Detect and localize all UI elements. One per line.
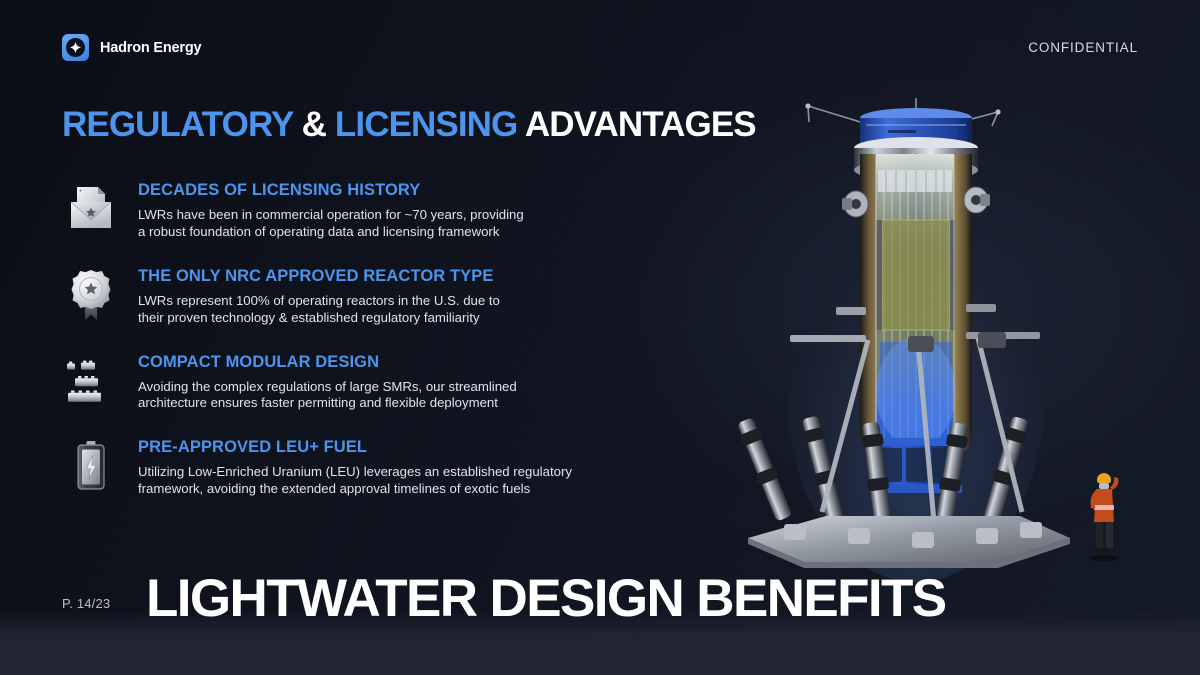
bottom-band: [0, 633, 1200, 675]
benefits-list: DECADES OF LICENSING HISTORY LWRs have b…: [62, 178, 682, 521]
list-item-body: LWRs represent 100% of operating reactor…: [138, 293, 500, 327]
list-item: DECADES OF LICENSING HISTORY LWRs have b…: [62, 178, 682, 241]
list-item-text: COMPACT MODULAR DESIGN Avoiding the comp…: [138, 350, 517, 413]
page-title-part-3: LICENSING: [335, 105, 517, 144]
list-item: THE ONLY NRC APPROVED REACTOR TYPE LWRs …: [62, 264, 682, 327]
brand-logo: Hadron Energy: [62, 34, 201, 61]
list-item-text: DECADES OF LICENSING HISTORY LWRs have b…: [138, 178, 524, 241]
list-item-text: THE ONLY NRC APPROVED REACTOR TYPE LWRs …: [138, 264, 500, 327]
page-title: REGULATORY & LICENSING ADVANTAGES: [62, 107, 756, 144]
list-item: PRE-APPROVED LEU+ FUEL Utilizing Low-Enr…: [62, 435, 682, 498]
list-item-heading: DECADES OF LICENSING HISTORY: [138, 181, 524, 200]
four-pointed-star-icon: [66, 38, 85, 57]
list-item-body: LWRs have been in commercial operation f…: [138, 207, 524, 241]
list-item-body: Avoiding the complex regulations of larg…: [138, 379, 517, 413]
list-item-heading: PRE-APPROVED LEU+ FUEL: [138, 438, 572, 457]
list-item-heading: COMPACT MODULAR DESIGN: [138, 353, 517, 372]
slide-header: Hadron Energy CONFIDENTIAL: [62, 34, 1138, 61]
page-title-part-1: REGULATORY: [62, 105, 293, 144]
page-title-part-4: ADVANTAGES: [525, 105, 756, 144]
brand-mark: [62, 34, 89, 61]
slide-root: Hadron Energy CONFIDENTIAL REGULATORY & …: [0, 0, 1200, 675]
award-medal-icon: [62, 264, 120, 326]
list-item-heading: THE ONLY NRC APPROVED REACTOR TYPE: [138, 267, 500, 286]
battery-bolt-icon: [62, 435, 120, 497]
brand-name: Hadron Energy: [100, 40, 201, 56]
list-item: COMPACT MODULAR DESIGN Avoiding the comp…: [62, 350, 682, 413]
slide-footer-title: LIGHTWATER DESIGN BENEFITS: [146, 568, 946, 629]
list-item-body: Utilizing Low-Enriched Uranium (LEU) lev…: [138, 464, 572, 498]
worker-figure: [1090, 473, 1118, 561]
page-title-part-2: &: [302, 105, 326, 144]
page-number: P. 14/23: [62, 596, 110, 611]
list-item-text: PRE-APPROVED LEU+ FUEL Utilizing Low-Enr…: [138, 435, 572, 498]
modular-blocks-icon: [62, 350, 120, 412]
smr-reactor-vessel-render: [730, 92, 1170, 582]
confidential-label: CONFIDENTIAL: [1028, 40, 1138, 55]
certificate-envelope-icon: [62, 178, 120, 240]
